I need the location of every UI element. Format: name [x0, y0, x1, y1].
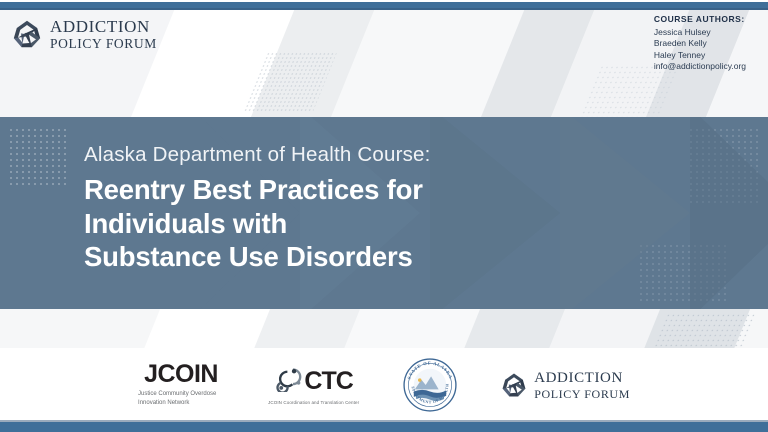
apf-footer-wordmark: ADDICTION POLICY FORUM: [534, 371, 630, 400]
course-author-name: Jessica Hulsey: [654, 27, 746, 38]
addiction-policy-forum-wordmark: ADDICTION POLICY FORUM: [50, 18, 157, 51]
alaska-state-seal: STATE OF ALASKA DEPARTMENT OF HEALTH: [403, 358, 457, 412]
course-title-line1: Reentry Best Practices for: [84, 174, 423, 205]
ctc-wordmark: CTC: [304, 369, 352, 394]
course-authors-heading: COURSE AUTHORS:: [654, 14, 746, 24]
apf-wordmark-line2: POLICY FORUM: [50, 37, 157, 51]
top-accent-bar-shadow: [0, 8, 768, 10]
ctc-tagline: JCOIN Coordination and Translation Cente…: [268, 400, 359, 405]
course-author-name: Braeden Kelly: [654, 38, 746, 49]
course-title-line2: Individuals with: [84, 208, 287, 239]
title-banner: Alaska Department of Health Course: Reen…: [0, 117, 768, 309]
jcoin-tagline-line1: Justice Community Overdose: [138, 391, 216, 397]
pinwheel-logo-icon: [12, 19, 42, 49]
jcoin-tagline-line2: Innovation Network: [138, 400, 189, 406]
apf-footer-line1: ADDICTION: [534, 371, 630, 386]
addiction-policy-forum-footer-logo: ADDICTION POLICY FORUM: [501, 371, 630, 400]
jcoin-tagline: Justice Community Overdose Innovation Ne…: [138, 390, 224, 408]
course-title-line3: Substance Use Disorders: [84, 241, 413, 272]
ctc-logo: CTC JCOIN Coordination and Translation C…: [268, 366, 359, 405]
apf-footer-lockup: ADDICTION POLICY FORUM: [501, 371, 630, 400]
bottom-accent-bar: [0, 422, 768, 432]
title-text-block: Alaska Department of Health Course: Reen…: [84, 143, 431, 274]
jcoin-wordmark: JCOIN: [144, 362, 218, 387]
course-subtitle: Alaska Department of Health Course:: [84, 143, 431, 167]
lower-decorative-strip: [0, 309, 768, 348]
addiction-policy-forum-logo: ADDICTION POLICY FORUM: [12, 18, 157, 51]
pinwheel-logo-icon: [501, 372, 527, 398]
ctc-molecule-icon: [274, 366, 303, 397]
apf-footer-line2: POLICY FORUM: [534, 388, 630, 400]
slide-canvas: ADDICTION POLICY FORUM COURSE AUTHORS: J…: [0, 0, 768, 432]
course-authors-block: COURSE AUTHORS: Jessica Hulsey Braeden K…: [654, 14, 746, 73]
partner-logo-row: JCOIN Justice Community Overdose Innovat…: [0, 352, 768, 418]
jcoin-logo: JCOIN Justice Community Overdose Innovat…: [138, 362, 224, 408]
course-title: Reentry Best Practices for Individuals w…: [84, 173, 431, 274]
ctc-lockup: CTC: [274, 366, 352, 397]
lower-dot-pattern: [653, 313, 757, 347]
course-authors-email[interactable]: info@addictionpolicy.org: [654, 61, 746, 72]
apf-wordmark-line1: ADDICTION: [50, 18, 157, 35]
course-author-name: Haley Tenney: [654, 50, 746, 61]
alaska-seal-icon: STATE OF ALASKA DEPARTMENT OF HEALTH: [403, 358, 457, 412]
